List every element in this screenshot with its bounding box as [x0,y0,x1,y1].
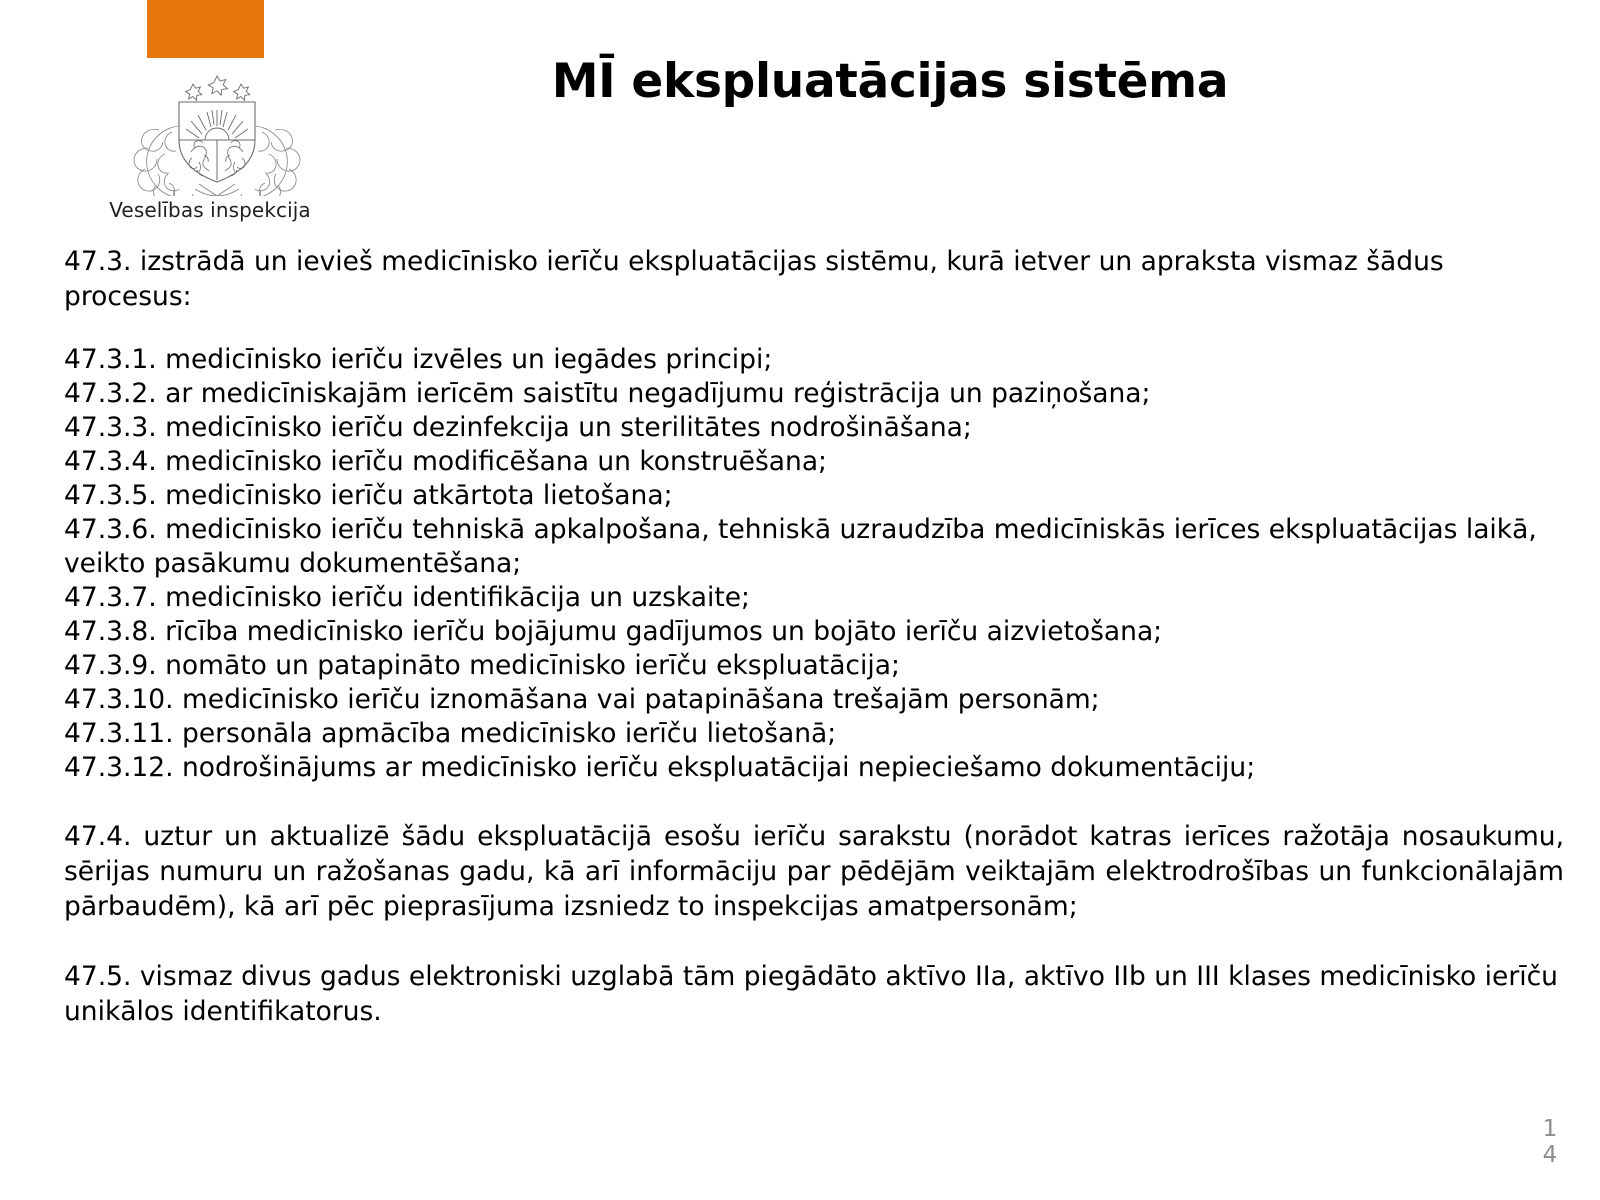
slide-body: 47.3. izstrādā un ievieš medicīnisko ier… [64,244,1564,1029]
list-item: 47.3.4. medicīnisko ierīču modificēšana … [64,445,1564,479]
paragraph-47-5: 47.5. vismaz divus gadus elektroniski uz… [64,959,1564,1029]
latvian-coat-of-arms-icon [129,66,305,196]
list-item: 47.3.9. nomāto un patapināto medicīnisko… [64,649,1564,683]
paragraph-47-4: 47.4. uztur un aktualizē šādu ekspluatāc… [64,819,1564,924]
list-item: 47.3.12. nodrošinājums ar medicīnisko ie… [64,751,1564,785]
list-item: 47.3.5. medicīnisko ierīču atkārtota lie… [64,479,1564,513]
list-item: 47.3.7. medicīnisko ierīču identifikācij… [64,581,1564,615]
page-number-digit-one: 1 [1533,1116,1567,1142]
list-item: 47.3.2. ar medicīniskajām ierīcēm saistī… [64,377,1564,411]
orange-bar-decoration [147,0,264,58]
list-item: 47.3.8. rīcība medicīnisko ierīču bojāju… [64,615,1564,649]
list-item: 47.3.3. medicīnisko ierīču dezinfekcija … [64,411,1564,445]
intro-paragraph: 47.3. izstrādā un ievieš medicīnisko ier… [64,244,1484,314]
process-list: 47.3.1. medicīnisko ierīču izvēles un ie… [64,343,1564,785]
page-number: 1 4 [1533,1116,1567,1168]
page-title: MĪ ekspluatācijas sistēma [330,56,1450,108]
logo-caption: Veselības inspekcija [95,198,325,222]
page-number-digit-two: 4 [1533,1142,1567,1168]
organization-logo: Veselības inspekcija [95,0,325,235]
list-item: 47.3.1. medicīnisko ierīču izvēles un ie… [64,343,1564,377]
list-item: 47.3.6. medicīnisko ierīču tehniskā apka… [64,513,1564,581]
list-item: 47.3.11. personāla apmācība medicīnisko … [64,717,1564,751]
list-item: 47.3.10. medicīnisko ierīču iznomāšana v… [64,683,1564,717]
